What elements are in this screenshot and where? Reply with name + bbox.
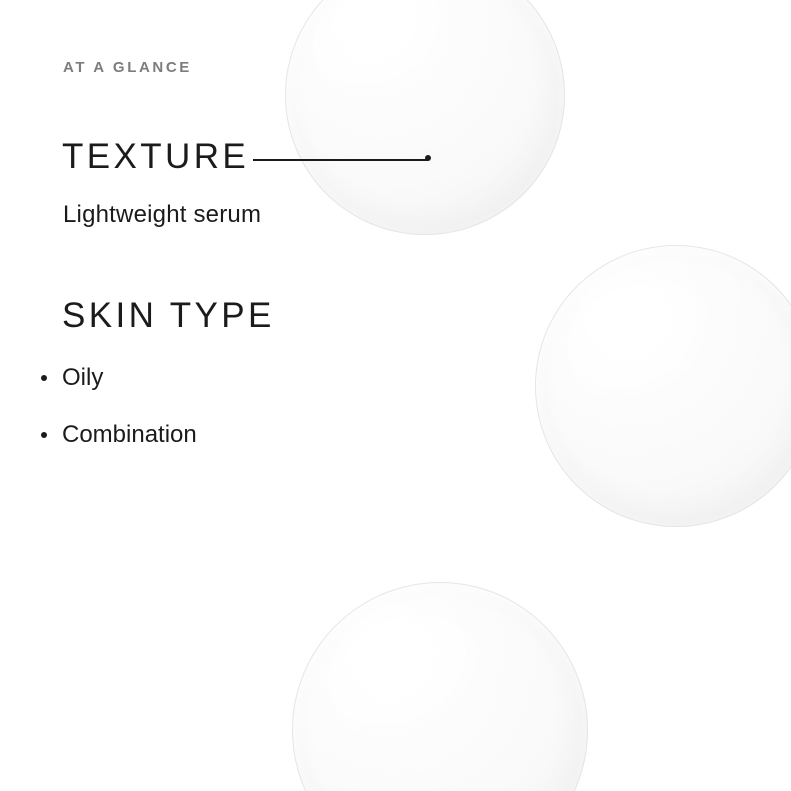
section-title-texture: TEXTURE <box>62 139 249 174</box>
texture-leader-line <box>253 159 428 161</box>
bullet-dot-icon <box>41 375 47 381</box>
droplet-highlight <box>344 0 384 32</box>
droplet-sheen <box>326 612 512 764</box>
droplet-highlight <box>361 639 406 677</box>
skin-type-list: Oily Combination <box>38 366 197 447</box>
droplet-sheen <box>565 279 741 427</box>
droplet-rim <box>285 0 565 235</box>
serum-droplet-1 <box>285 0 565 235</box>
droplet-sheen <box>311 0 481 121</box>
droplet-highlight <box>598 313 641 350</box>
list-item-label: Combination <box>62 421 197 448</box>
droplet-rim <box>292 582 588 791</box>
serum-droplet-3 <box>292 582 588 791</box>
droplet-body <box>285 0 565 235</box>
list-item: Combination <box>38 423 197 447</box>
section-title-skin-type: SKIN TYPE <box>62 298 275 333</box>
list-item: Oily <box>38 366 197 390</box>
eyebrow-label: AT A GLANCE <box>63 59 192 76</box>
droplet-body <box>535 245 791 527</box>
serum-droplet-2 <box>535 245 791 527</box>
list-item-label: Oily <box>62 364 103 391</box>
texture-leader-dot-icon <box>425 155 431 161</box>
bullet-dot-icon <box>41 432 47 438</box>
droplet-body <box>292 582 588 791</box>
droplet-rim <box>535 245 791 527</box>
section-value-texture: Lightweight serum <box>63 203 261 227</box>
at-a-glance-panel: AT A GLANCE TEXTURE Lightweight serum SK… <box>0 0 791 791</box>
